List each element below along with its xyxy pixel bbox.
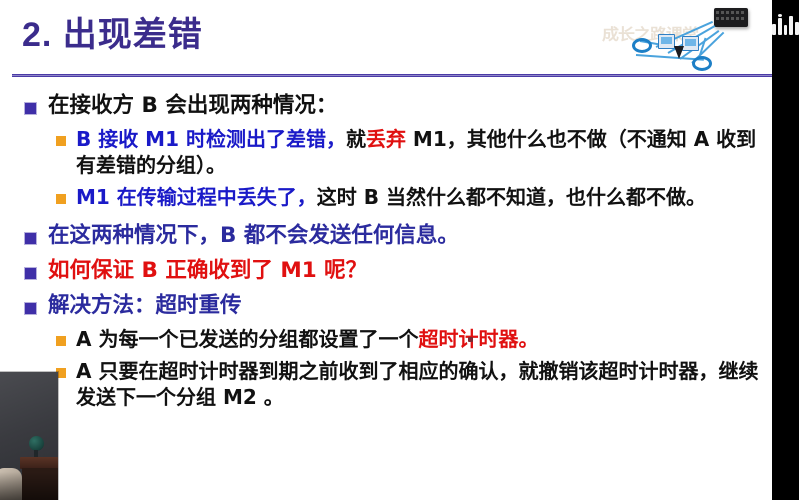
bilibili-logo-bar [772, 24, 776, 35]
hub-ring-icon [632, 38, 652, 53]
webcam-shadow [0, 472, 58, 500]
text-run: 在接收方 B 会出现两种情况： [48, 93, 337, 118]
antenna-icon [674, 46, 684, 59]
bilibili-logo-bar [778, 18, 782, 35]
text-run: 解决方法：超时重传 [48, 293, 242, 318]
computer-icon [682, 36, 699, 51]
slide-title-block: 2. 出现差错 [22, 16, 582, 54]
bilibili-logo-icon [770, 14, 799, 40]
text-run: 丢弃 [366, 127, 406, 151]
bullet-row: 在接收方 B 会出现两种情况： [0, 92, 772, 120]
bullet-row: 解决方法：超时重传 [0, 292, 772, 320]
bullet-text: 如何保证 B 正确收到了 M1 呢？ [48, 257, 772, 285]
bilibili-logo-bar [784, 25, 787, 35]
bullet-marker-level1 [24, 302, 37, 315]
bullet-marker-level1 [24, 267, 37, 280]
text-run: B 接收 M1 时检测出了差错， [76, 127, 346, 151]
text-run: 如何保证 B 正确收到了 M1 呢？ [48, 258, 367, 283]
bullet-text: M1 在传输过程中丢失了，这时 B 当然什么都不知道，也什么都不做。 [76, 185, 772, 211]
text-run: 这时 B 当然什么都不知道，也什么都不做。 [317, 185, 706, 209]
bullet-text: 在接收方 B 会出现两种情况： [48, 92, 772, 120]
network-diagram-graphic: 成长之路课堂 [596, 2, 772, 72]
hub-ring-icon [692, 56, 712, 71]
computer-icon [658, 34, 675, 49]
bullet-row: B 接收 M1 时检测出了差错，就丢弃 M1，其他什么也不做（不通知 A 收到有… [0, 127, 772, 178]
webcam-globe [29, 436, 44, 451]
switch-icon [714, 8, 748, 27]
bullet-row: 如何保证 B 正确收到了 M1 呢？ [0, 257, 772, 285]
slide-body: 在接收方 B 会出现两种情况： B 接收 M1 时检测出了差错，就丢弃 M1，其… [0, 92, 772, 412]
text-run: 在这两种情况下，B 都不会发送任何信息。 [48, 223, 459, 248]
bullet-text: 解决方法：超时重传 [48, 292, 772, 320]
bullet-text: A 只要在超时计时器到期之前收到了相应的确认，就撤销该超时计时器，继续发送下一个… [76, 359, 772, 410]
bullet-marker-level2 [56, 336, 66, 346]
bilibili-logo-dot [778, 14, 782, 17]
bullet-row: 在这两种情况下，B 都不会发送任何信息。 [0, 222, 772, 250]
spacer [0, 213, 772, 222]
pointer-dot [468, 337, 473, 342]
bullet-row: A 为每一个已发送的分组都设置了一个超时计时器。 [0, 327, 772, 353]
text-run: A 只要在超时计时器到期之前收到了相应的确认，就撤销该超时计时器，继续发送下一个… [76, 359, 758, 409]
bullet-marker-level2 [56, 194, 66, 204]
bullet-marker-level1 [24, 102, 37, 115]
bullet-row: M1 在传输过程中丢失了，这时 B 当然什么都不知道，也什么都不做。 [0, 185, 772, 211]
slide-canvas: 2. 出现差错 成长之路课堂 在接收方 B 会出现两种情况： B 接收 M1 时… [0, 0, 772, 500]
text-run: 就 [346, 127, 366, 151]
title-divider [12, 74, 772, 77]
page-title: 2. 出现差错 [22, 16, 582, 54]
text-run: M1 在传输过程中丢失了， [76, 185, 317, 209]
bullet-text: A 为每一个已发送的分组都设置了一个超时计时器。 [76, 327, 772, 353]
webcam-globe-stand [34, 450, 38, 457]
bullet-marker-level1 [24, 232, 37, 245]
letterbox-right-bar [772, 0, 799, 500]
bullet-text: B 接收 M1 时检测出了差错，就丢弃 M1，其他什么也不做（不通知 A 收到有… [76, 127, 772, 178]
bullet-text: 在这两种情况下，B 都不会发送任何信息。 [48, 222, 772, 250]
bullet-row: A 只要在超时计时器到期之前收到了相应的确认，就撤销该超时计时器，继续发送下一个… [0, 359, 772, 410]
bilibili-logo-bar [795, 22, 799, 35]
text-run: A 为每一个已发送的分组都设置了一个 [76, 327, 418, 351]
bilibili-logo-bar [789, 16, 793, 35]
text-run: 超时计时器。 [418, 327, 538, 351]
bullet-marker-level2 [56, 136, 66, 146]
webcam-video-overlay[interactable] [0, 372, 58, 500]
